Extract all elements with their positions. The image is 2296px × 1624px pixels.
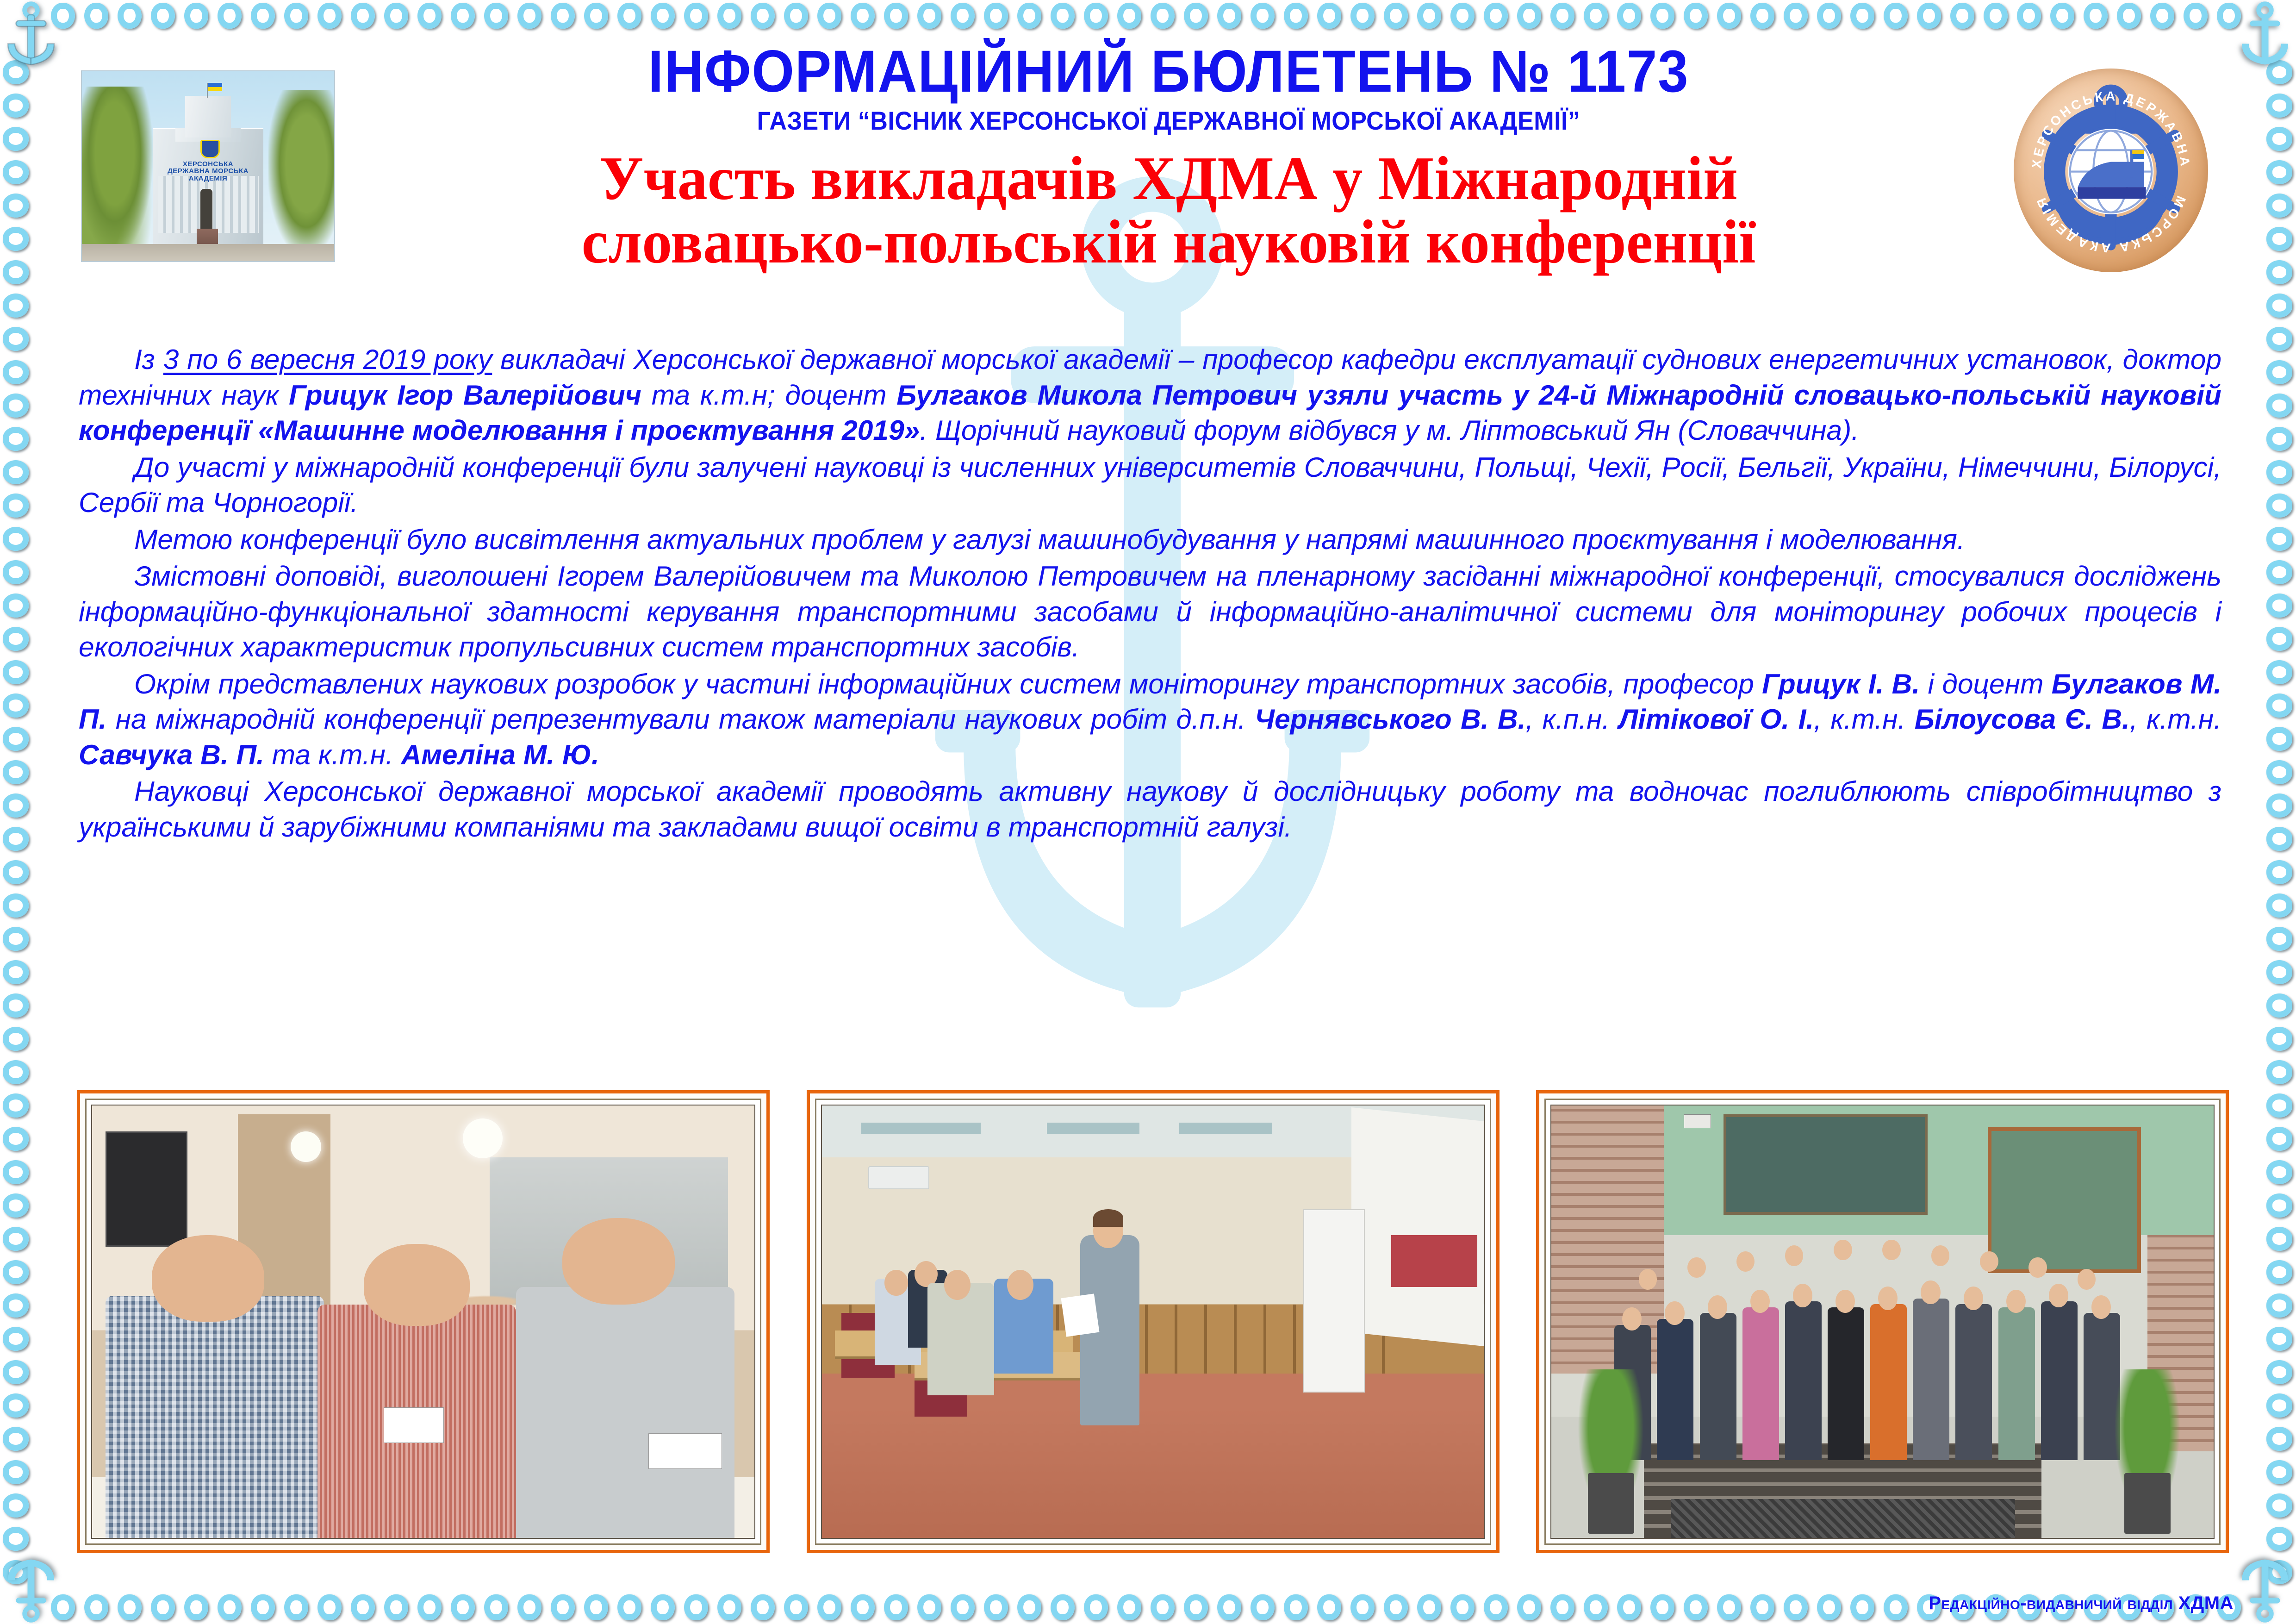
chain-link — [3, 294, 29, 318]
text-run: . Щорічний науковий форум відбувся у м. … — [920, 414, 1859, 446]
chain-link — [1784, 1594, 1808, 1620]
chain-link — [2266, 1327, 2292, 1351]
bulletin-title: ІНФОРМАЦІЙНИЙ БЮЛЕТЕНЬ № 1173 — [417, 41, 1920, 103]
paragraph-p3: Метою конференції було висвітлення актуа… — [79, 522, 2221, 557]
chain-link — [284, 1594, 308, 1620]
handout-paper — [1061, 1293, 1099, 1337]
text-run: і доцент — [1920, 668, 2052, 700]
bulletin-page: ХЕРСОНСЬКА ДЕРЖАВНА МОРСЬКА АКАДЕМІЯ ІНФ… — [0, 0, 2296, 1624]
article-title-line-1: Участь викладачів ХДМА у Міжнародній — [376, 147, 1961, 210]
chain-link — [1350, 1594, 1375, 1620]
chain-link — [2266, 927, 2292, 951]
text-run: До участі у міжнародній конференції були… — [79, 451, 2221, 518]
chain-link — [2266, 427, 2292, 451]
chain-link — [1117, 1594, 1141, 1620]
chain-link — [2266, 1127, 2292, 1151]
chain-link — [1617, 1594, 1641, 1620]
chain-link — [3, 160, 29, 184]
chain-link — [651, 3, 675, 29]
editorial-credit: Редакційно-видавничий відділ ХДМА — [1929, 1593, 2234, 1614]
text-run: та к.т.н; доцент — [641, 379, 896, 411]
chain-link — [1684, 1594, 1708, 1620]
chain-link — [717, 3, 741, 29]
chain-link — [1450, 1594, 1475, 1620]
chain-link — [2266, 227, 2292, 251]
chain-link — [1317, 3, 1341, 29]
chain-link — [984, 3, 1008, 29]
chain-link — [3, 1293, 29, 1318]
chain-link — [1084, 1594, 1108, 1620]
chain-link — [3, 1527, 29, 1551]
chain-link — [484, 3, 508, 29]
bulletin-subtitle: ГАЗЕТИ “ВІСНИК ХЕРСОНСЬКОЇ ДЕРЖАВНОЇ МОР… — [409, 106, 1929, 136]
chain-link — [2266, 560, 2292, 584]
chain-link — [751, 1594, 775, 1620]
chain-link — [2266, 727, 2292, 751]
chain-link — [384, 1594, 408, 1620]
chain-link — [151, 3, 175, 29]
chain-link — [1417, 1594, 1441, 1620]
chain-link — [2266, 1027, 2292, 1051]
pendant-lamp-icon — [463, 1118, 503, 1158]
chain-link — [3, 1427, 29, 1451]
chain-link — [1184, 3, 1208, 29]
chain-link — [3, 94, 29, 118]
chain-link — [2266, 1527, 2292, 1551]
chain-link — [917, 1594, 941, 1620]
chain-link — [2266, 1160, 2292, 1184]
chain-link — [1717, 3, 1741, 29]
room-number-sign — [1684, 1114, 1711, 1128]
chain-link — [2266, 1293, 2292, 1318]
text-run: Метою конференції було висвітлення актуа… — [134, 524, 1965, 555]
photo-1[interactable] — [77, 1090, 770, 1553]
chain-border-right — [2264, 0, 2296, 1624]
chain-link — [3, 593, 29, 618]
chain-link — [1550, 3, 1574, 29]
chain-link — [3, 527, 29, 551]
chain-link — [517, 3, 541, 29]
chain-link — [617, 1594, 641, 1620]
chain-link — [651, 1594, 675, 1620]
chain-link — [884, 1594, 908, 1620]
chain-link — [3, 1327, 29, 1351]
chain-link — [517, 1594, 541, 1620]
chain-link — [951, 3, 975, 29]
chain-link — [751, 3, 775, 29]
chain-link — [3, 827, 29, 851]
chain-link — [2184, 3, 2208, 29]
chain-link — [3, 227, 29, 251]
chain-link — [951, 1594, 975, 1620]
chain-link — [84, 3, 108, 29]
page-header: ХЕРСОНСЬКА ДЕРЖАВНА МОРСЬКА АКАДЕМІЯ ІНФ… — [32, 32, 2264, 338]
pendant-lamp-icon — [291, 1131, 321, 1162]
chain-link — [2266, 1060, 2292, 1084]
chain-link — [218, 1594, 242, 1620]
photo-3[interactable] — [1536, 1090, 2229, 1553]
chain-link — [2017, 3, 2041, 29]
chain-link — [1251, 3, 1275, 29]
article-title-line-2: словацько-польській науковій конференції — [376, 210, 1961, 274]
chain-link — [1850, 3, 1874, 29]
chain-link — [3, 1093, 29, 1118]
chain-link — [817, 3, 841, 29]
chain-link — [1417, 3, 1441, 29]
anchor-corner-icon — [1, 1, 61, 70]
chain-link — [251, 3, 275, 29]
chain-link — [118, 1594, 142, 1620]
chain-link — [3, 1393, 29, 1418]
text-run: Змістовні доповіді, виголошені Ігорем Ва… — [79, 560, 2221, 662]
chain-link — [1750, 1594, 1774, 1620]
chain-link — [384, 3, 408, 29]
text-run: 3 по 6 вересня 2019 року — [163, 344, 492, 375]
text-run: Білоусова Є. В. — [1915, 703, 2130, 735]
chain-link — [784, 3, 808, 29]
chain-link — [184, 1594, 208, 1620]
text-run: , к.т.н. — [1814, 703, 1915, 735]
chain-link — [2266, 527, 2292, 551]
chain-link — [3, 1260, 29, 1284]
text-run: Чернявського В. В. — [1255, 703, 1525, 735]
chain-link — [1384, 1594, 1408, 1620]
chain-link — [2117, 3, 2141, 29]
chain-link — [817, 1594, 841, 1620]
chain-link — [684, 3, 708, 29]
chain-link — [1884, 1594, 1908, 1620]
chain-link — [2266, 127, 2292, 151]
chain-link — [584, 1594, 608, 1620]
text-run: , к.т.н. — [2130, 703, 2221, 735]
paragraph-p6: Науковці Херсонської державної морської … — [79, 774, 2221, 844]
chain-link — [451, 3, 475, 29]
chain-link — [2084, 3, 2108, 29]
chain-link — [184, 3, 208, 29]
chain-link — [1684, 3, 1708, 29]
text-run: Грицук І. В. — [1762, 668, 1920, 700]
chain-link — [1984, 3, 2008, 29]
chain-link — [2266, 660, 2292, 684]
chain-link — [851, 1594, 875, 1620]
chain-link — [2266, 94, 2292, 118]
chain-link — [3, 493, 29, 518]
chain-link — [884, 3, 908, 29]
chain-link — [1917, 3, 1941, 29]
chain-link — [2266, 1493, 2292, 1518]
chain-border-top — [0, 0, 2296, 32]
chain-link — [2266, 793, 2292, 818]
chain-link — [584, 3, 608, 29]
chain-link — [451, 1594, 475, 1620]
chain-link — [3, 327, 29, 351]
text-run: , к.п.н. — [1525, 703, 1618, 735]
photo-2[interactable] — [807, 1090, 1500, 1553]
text-run: Окрім представлених наукових розробок у … — [134, 668, 1762, 700]
chain-link — [3, 1360, 29, 1384]
chain-link — [1217, 1594, 1241, 1620]
academy-building-photo: ХЕРСОНСЬКА ДЕРЖАВНА МОРСЬКА АКАДЕМІЯ — [81, 70, 335, 262]
chain-link — [1017, 1594, 1041, 1620]
chain-link — [2266, 593, 2292, 618]
wall-tv — [106, 1131, 188, 1247]
chain-link — [3, 693, 29, 718]
chain-link — [3, 927, 29, 951]
air-conditioner — [868, 1166, 930, 1190]
chain-link — [1217, 3, 1241, 29]
chain-link — [2266, 460, 2292, 484]
anchor-corner-icon — [2235, 1, 2295, 70]
chain-link — [1617, 3, 1641, 29]
chain-link — [317, 1594, 342, 1620]
chain-link — [3, 1227, 29, 1251]
chain-link — [2266, 1093, 2292, 1118]
article-title: Участь викладачів ХДМА у Міжнародній сло… — [376, 147, 1961, 273]
chain-link — [3, 427, 29, 451]
chain-link — [717, 1594, 741, 1620]
chain-link — [1350, 3, 1375, 29]
chain-link — [1051, 1594, 1075, 1620]
chain-link — [151, 1594, 175, 1620]
paragraph-p5: Окрім представлених наукових розробок у … — [79, 666, 2221, 773]
chain-link — [1317, 1594, 1341, 1620]
chain-link — [2266, 1227, 2292, 1251]
chain-link — [3, 1160, 29, 1184]
chain-link — [2150, 3, 2174, 29]
chain-link — [2266, 993, 2292, 1018]
chain-link — [1051, 3, 1075, 29]
anchor-corner-icon — [2235, 1554, 2295, 1623]
chain-link — [1517, 3, 1541, 29]
chain-link — [2266, 827, 2292, 851]
chain-link — [3, 1027, 29, 1051]
chain-border-left — [0, 0, 32, 1624]
text-run: та к.т.н. — [264, 739, 401, 770]
chain-link — [1884, 3, 1908, 29]
chain-link — [3, 1193, 29, 1218]
chain-link — [3, 1460, 29, 1484]
chain-link — [2266, 1460, 2292, 1484]
text-run — [1297, 379, 1307, 411]
chain-link — [1084, 3, 1108, 29]
chain-link — [917, 3, 941, 29]
chain-link — [1184, 1594, 1208, 1620]
chain-link — [1650, 3, 1674, 29]
chain-link — [251, 1594, 275, 1620]
chain-link — [2266, 360, 2292, 384]
chain-link — [551, 3, 575, 29]
chain-link — [2266, 1427, 2292, 1451]
chain-link — [2266, 627, 2292, 651]
paragraph-p4: Змістовні доповіді, виголошені Ігорем Ва… — [79, 558, 2221, 665]
academy-logo: ХЕРСОНСЬКА ДЕРЖАВНА МОРСЬКА АКАДЕМІЯ — [2014, 69, 2208, 272]
chain-link — [118, 3, 142, 29]
chain-link — [984, 1594, 1008, 1620]
chain-link — [317, 3, 342, 29]
chain-link — [417, 1594, 442, 1620]
building-sign: ХЕРСОНСЬКА ДЕРЖАВНА МОРСЬКА АКАДЕМІЯ — [165, 161, 251, 176]
flipchart — [1303, 1209, 1365, 1393]
chain-link — [1950, 3, 1974, 29]
chain-link — [3, 194, 29, 218]
chain-link — [1384, 3, 1408, 29]
text-run: Амеліна М. Ю. — [401, 739, 599, 770]
chain-link — [2266, 327, 2292, 351]
chain-link — [784, 1594, 808, 1620]
building-crest-icon — [200, 140, 220, 158]
chain-link — [2266, 760, 2292, 784]
chain-link — [3, 1060, 29, 1084]
chain-link — [351, 1594, 375, 1620]
text-run: Булгаков Микола Петрович — [896, 379, 1297, 411]
text-run: Літікової О. І. — [1619, 703, 1814, 735]
name-badge — [384, 1407, 444, 1443]
article-body: Із 3 по 6 вересня 2019 року викладачі Хе… — [79, 342, 2221, 846]
chain-link — [617, 3, 641, 29]
chain-link — [2266, 260, 2292, 284]
text-run: Савчука В. П. — [79, 739, 264, 770]
chain-link — [2266, 1260, 2292, 1284]
chain-link — [3, 360, 29, 384]
chain-link — [2266, 893, 2292, 918]
projection-screen — [1351, 1107, 1484, 1346]
chain-link — [3, 760, 29, 784]
chain-link — [684, 1594, 708, 1620]
page-content: ХЕРСОНСЬКА ДЕРЖАВНА МОРСЬКА АКАДЕМІЯ ІНФ… — [32, 32, 2264, 1592]
chain-link — [1750, 3, 1774, 29]
chain-link — [2266, 194, 2292, 218]
chain-link — [3, 993, 29, 1018]
text-run: Науковці Херсонської державної морської … — [79, 775, 2221, 843]
anchor-corner-icon — [1, 1554, 61, 1623]
chain-link — [1850, 1594, 1874, 1620]
chain-link — [2266, 160, 2292, 184]
chain-link — [3, 260, 29, 284]
text-run: на міжнародній конференції репрезентувал… — [106, 703, 1255, 735]
chain-link — [2266, 1193, 2292, 1218]
chain-link — [1284, 3, 1308, 29]
chain-link — [2266, 960, 2292, 984]
chain-link — [2266, 493, 2292, 518]
chain-link — [2266, 394, 2292, 418]
chain-link — [84, 1594, 108, 1620]
chain-link — [2266, 860, 2292, 884]
chain-link — [3, 627, 29, 651]
chain-link — [1550, 1594, 1574, 1620]
chain-link — [3, 960, 29, 984]
chain-link — [2266, 294, 2292, 318]
chain-link — [1584, 3, 1608, 29]
chain-link — [1717, 1594, 1741, 1620]
name-badge — [648, 1433, 722, 1469]
chain-link — [1817, 1594, 1841, 1620]
paragraph-p2: До участі у міжнародній конференції були… — [79, 450, 2221, 520]
chain-link — [3, 127, 29, 151]
chain-link — [3, 860, 29, 884]
chain-link — [1117, 3, 1141, 29]
chain-link — [2266, 1360, 2292, 1384]
header-text-block: ІНФОРМАЦІЙНИЙ БЮЛЕТЕНЬ № 1173 ГАЗЕТИ “ВІ… — [352, 41, 1985, 274]
chain-link — [1450, 3, 1475, 29]
chain-link — [2266, 693, 2292, 718]
chain-link — [1650, 1594, 1674, 1620]
chain-link — [284, 3, 308, 29]
chain-link — [1584, 1594, 1608, 1620]
chain-link — [3, 793, 29, 818]
paragraph-p1: Із 3 по 6 вересня 2019 року викладачі Хе… — [79, 342, 2221, 448]
chain-link — [1151, 3, 1175, 29]
text-run: Грицук Ігор Валерійович — [289, 379, 641, 411]
chain-link — [1484, 1594, 1508, 1620]
chain-link — [1151, 1594, 1175, 1620]
chain-link — [1251, 1594, 1275, 1620]
chain-link — [351, 3, 375, 29]
chain-link — [3, 727, 29, 751]
chain-link — [218, 3, 242, 29]
chain-link — [484, 1594, 508, 1620]
chain-link — [1784, 3, 1808, 29]
text-run: Із — [134, 344, 163, 375]
chain-link — [3, 660, 29, 684]
chain-link — [1517, 1594, 1541, 1620]
chain-link — [2266, 1393, 2292, 1418]
chain-link — [3, 560, 29, 584]
chain-link — [851, 3, 875, 29]
chain-link — [1284, 1594, 1308, 1620]
chain-link — [551, 1594, 575, 1620]
photo-gallery — [77, 1090, 2229, 1553]
chain-link — [3, 1127, 29, 1151]
conference-group — [1578, 1166, 2187, 1460]
chain-link — [1017, 3, 1041, 29]
chain-link — [2050, 3, 2074, 29]
chain-link — [3, 394, 29, 418]
chain-link — [3, 460, 29, 484]
chain-link — [3, 893, 29, 918]
chain-link — [1484, 3, 1508, 29]
chain-link — [417, 3, 442, 29]
chain-link — [1817, 3, 1841, 29]
chain-link — [3, 1493, 29, 1518]
